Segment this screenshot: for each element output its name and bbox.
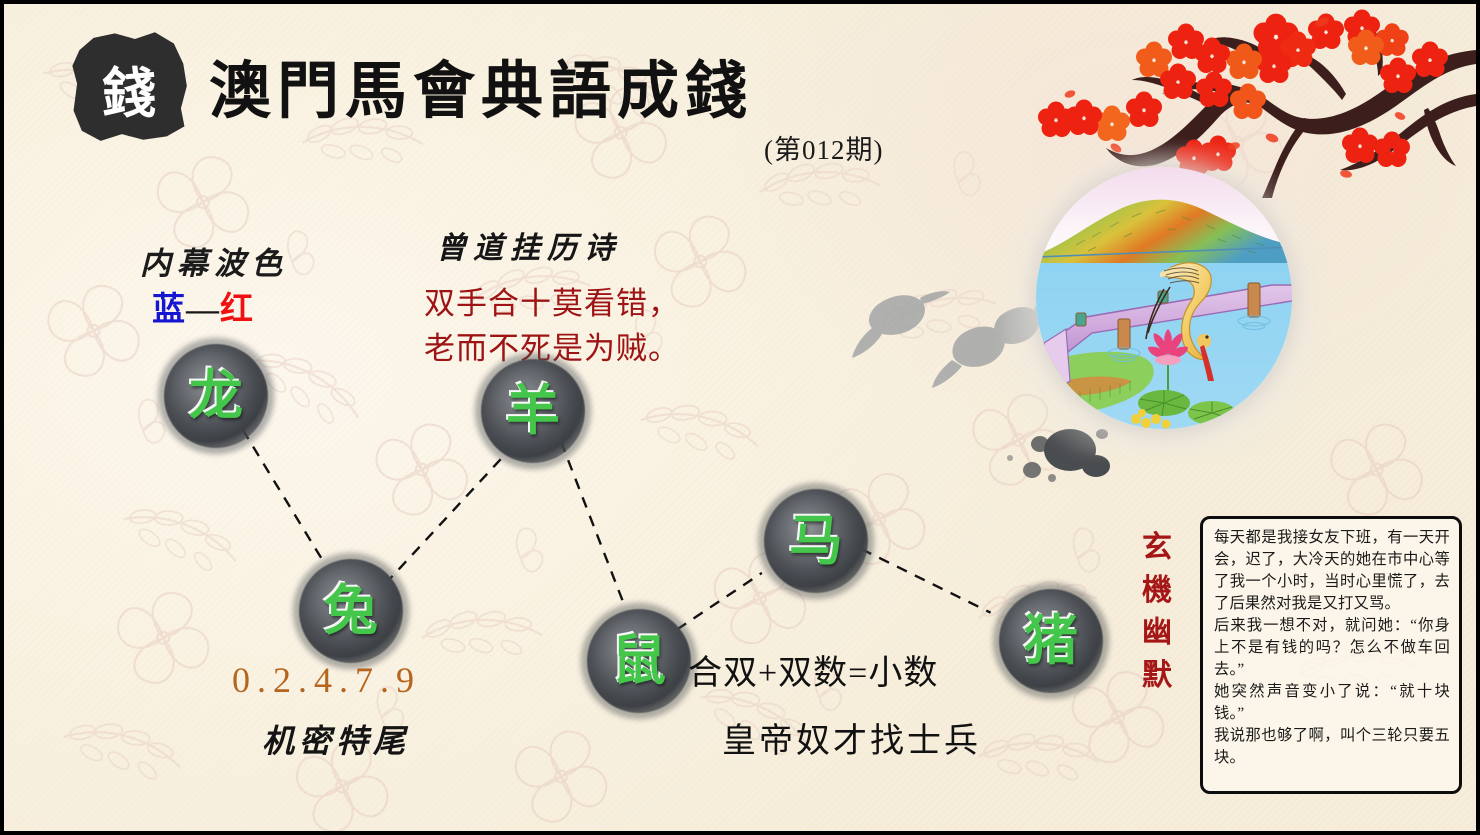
story-paragraph-1: 每天都是我接女友下班，有一天开会，迟了，大冷天的她在市中心等了我一个小时，当时心… [1214, 527, 1450, 615]
seal-glyph-text: 錢 [70, 30, 188, 142]
tail-label: 机密特尾 [262, 716, 410, 762]
bose-red-text: 红 [220, 292, 254, 328]
zodiac-glyph: 鼠 [612, 634, 666, 688]
zodiac-dragon[interactable]: 龙 [164, 344, 268, 448]
riddle-text: 皇帝奴才找士兵 [722, 713, 981, 762]
bose-blue-text: 蓝 [152, 292, 186, 328]
story-paragraph-4: 我说那也够了啊，叫个三轮只要五块。 [1214, 725, 1450, 769]
poem-line-1: 双手合十莫看错， [424, 282, 680, 327]
bose-value: 蓝—红 [152, 282, 254, 330]
zodiac-glyph: 羊 [506, 384, 560, 438]
page-title: 澳門馬會典語成錢 [209, 40, 753, 130]
zodiac-rat[interactable]: 鼠 [587, 609, 691, 713]
zodiac-glyph: 猪 [1024, 614, 1078, 668]
line-dragon-rabbit [243, 430, 325, 563]
bose-dash: — [186, 292, 220, 328]
formula-text: 合双+双数=小数 [688, 645, 938, 694]
tail-numbers: 0.2.4.7.9 [232, 659, 421, 701]
bose-label: 内幕波色 [140, 238, 288, 283]
story-paragraph-2: 后来我一想不对，就问她：“你身上不是有钱的吗？怎么不做车回去。” [1214, 615, 1450, 681]
zodiac-pig[interactable]: 猪 [999, 589, 1103, 693]
qian-seal-logo: 錢 [70, 30, 188, 142]
line-horse-pig [861, 549, 990, 613]
issue-number: (第012期) [764, 128, 883, 167]
zodiac-glyph: 兔 [324, 584, 378, 638]
zodiac-glyph: 龙 [189, 369, 243, 423]
story-box: 每天都是我接女友下班，有一天开会，迟了，大冷天的她在市中心等了我一个小时，当时心… [1200, 516, 1462, 794]
poem-title: 曾道挂历诗 [436, 223, 621, 267]
line-goat-rat [561, 442, 623, 601]
line-goat-rabbit [390, 445, 514, 579]
illustration-circle [1036, 167, 1292, 429]
zodiac-horse[interactable]: 马 [764, 489, 868, 593]
watercolor-illustration [1036, 167, 1292, 429]
zodiac-glyph: 马 [789, 514, 843, 568]
poster-canvas: 錢 澳門馬會典語成錢 (第012期) [0, 0, 1480, 835]
zodiac-rabbit[interactable]: 兔 [299, 559, 403, 663]
story-vertical-title: 玄機幽默 [1135, 527, 1179, 697]
zodiac-goat[interactable]: 羊 [481, 359, 585, 463]
story-paragraph-3: 她突然声音变小了说：“就十块钱。” [1214, 681, 1450, 725]
